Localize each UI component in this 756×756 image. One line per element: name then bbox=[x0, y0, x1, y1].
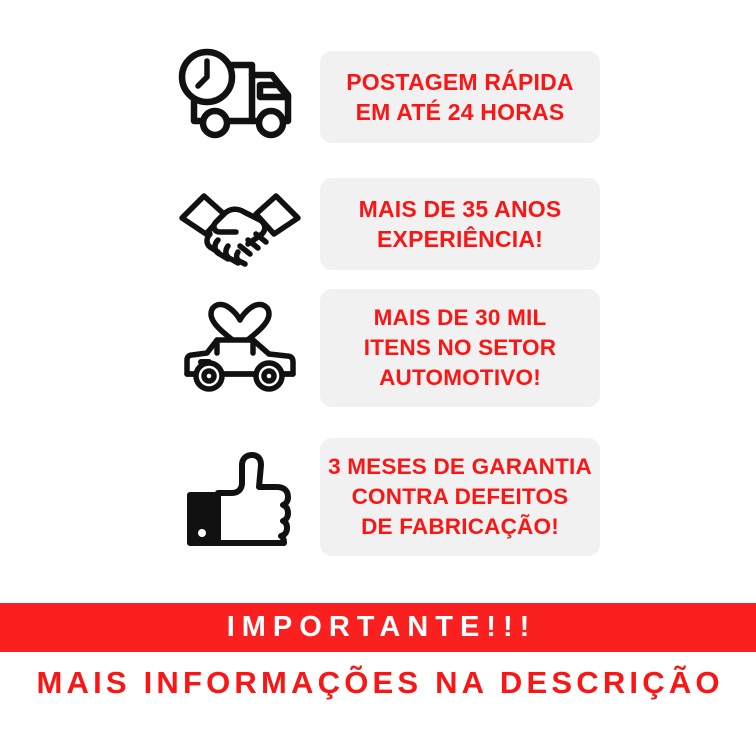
benefit-text-line: 3 MESES DE GARANTIA bbox=[328, 452, 592, 482]
benefit-text-line: EXPERIÊNCIA! bbox=[377, 224, 543, 254]
benefit-text-line: MAIS DE 30 MIL bbox=[374, 303, 547, 333]
important-banner-text: IMPORTANTE!!! bbox=[220, 611, 537, 644]
benefit-card-experience: MAIS DE 35 ANOS EXPERIÊNCIA! bbox=[320, 178, 600, 270]
benefit-text-line: ITENS NO SETOR bbox=[364, 333, 556, 363]
benefit-card-warranty: 3 MESES DE GARANTIA CONTRA DEFEITOS DE F… bbox=[320, 438, 600, 555]
car-heart-icon bbox=[160, 296, 320, 400]
benefit-text-line: MAIS DE 35 ANOS bbox=[359, 194, 562, 224]
delivery-truck-clock-icon bbox=[160, 47, 320, 147]
description-callout: MAIS INFORMAÇÕES NA DESCRIÇÃO bbox=[0, 655, 756, 711]
description-callout-text: MAIS INFORMAÇÕES NA DESCRIÇÃO bbox=[32, 665, 723, 701]
benefit-text-line: DE FABRICAÇÃO! bbox=[361, 512, 559, 542]
benefits-list: POSTAGEM RÁPIDA EM ATÉ 24 HORAS bbox=[0, 0, 756, 590]
benefit-card-automotive-items: MAIS DE 30 MIL ITENS NO SETOR AUTOMOTIVO… bbox=[320, 289, 600, 406]
benefit-text-line: EM ATÉ 24 HORAS bbox=[356, 97, 565, 127]
important-banner: IMPORTANTE!!! bbox=[0, 603, 756, 652]
benefit-text-line: AUTOMOTIVO! bbox=[379, 363, 541, 393]
benefit-text-line: POSTAGEM RÁPIDA bbox=[346, 67, 573, 97]
benefit-card-fast-shipping: POSTAGEM RÁPIDA EM ATÉ 24 HORAS bbox=[320, 51, 600, 143]
benefit-row-warranty: 3 MESES DE GARANTIA CONTRA DEFEITOS DE F… bbox=[160, 438, 600, 556]
benefit-row-experience: MAIS DE 35 ANOS EXPERIÊNCIA! bbox=[160, 168, 600, 280]
handshake-icon bbox=[160, 178, 320, 270]
benefit-row-fast-shipping: POSTAGEM RÁPIDA EM ATÉ 24 HORAS bbox=[160, 38, 600, 156]
benefit-row-automotive-items: MAIS DE 30 MIL ITENS NO SETOR AUTOMOTIVO… bbox=[160, 288, 600, 408]
benefit-text-line: CONTRA DEFEITOS bbox=[352, 482, 569, 512]
promo-banner-page: POSTAGEM RÁPIDA EM ATÉ 24 HORAS bbox=[0, 0, 756, 756]
thumbs-up-icon bbox=[160, 447, 320, 547]
